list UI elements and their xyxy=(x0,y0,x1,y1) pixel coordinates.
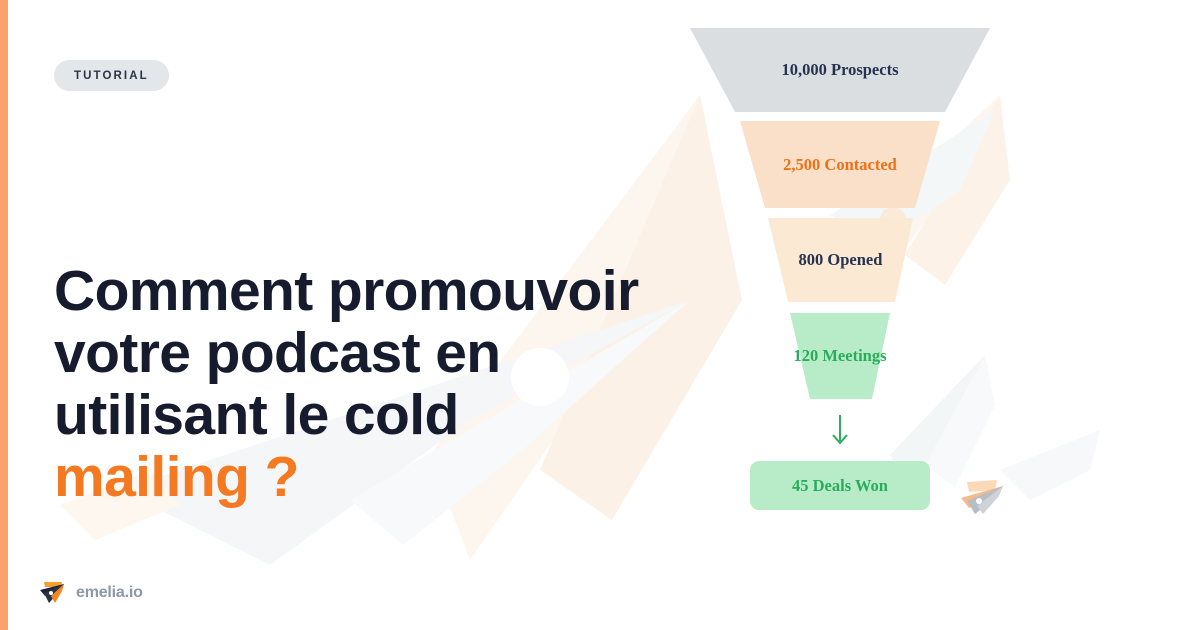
paper-plane-logo-icon xyxy=(38,580,66,606)
title-line-3: utilisant le cold xyxy=(54,383,459,447)
funnel-stage-deals-won: 45 Deals Won xyxy=(750,461,930,510)
funnel-label-deals-won: 45 Deals Won xyxy=(792,476,888,496)
funnel-label-contacted: 2,500 Contacted xyxy=(783,155,897,175)
category-badge: TUTORIAL xyxy=(54,60,169,91)
funnel-stage-prospects: 10,000 Prospects xyxy=(690,28,990,112)
left-accent-stripe xyxy=(0,0,8,630)
promo-banner: TUTORIAL Comment promouvoir votre podcas… xyxy=(0,0,1200,630)
funnel-label-opened: 800 Opened xyxy=(799,250,883,270)
paper-plane-decoration-icon xyxy=(953,468,1007,522)
funnel-stage-opened: 800 Opened xyxy=(768,218,913,302)
title-line-2: votre podcast en xyxy=(54,321,501,385)
funnel-stage-contacted: 2,500 Contacted xyxy=(740,121,940,208)
brand-logo[interactable]: emelia.io xyxy=(38,580,143,606)
title-line-1: Comment promouvoir xyxy=(54,259,639,323)
down-arrow-icon xyxy=(828,414,852,448)
conversion-funnel-chart: 10,000 Prospects 2,500 Contacted 800 Ope… xyxy=(680,20,1010,420)
funnel-stage-meetings: 120 Meetings xyxy=(790,313,890,399)
title-accent: mailing ? xyxy=(54,445,299,509)
funnel-label-prospects: 10,000 Prospects xyxy=(781,60,898,80)
logo-text: emelia.io xyxy=(76,584,143,602)
page-title: Comment promouvoir votre podcast en util… xyxy=(54,260,674,508)
badge-label: TUTORIAL xyxy=(74,70,149,82)
funnel-label-meetings: 120 Meetings xyxy=(793,346,886,366)
